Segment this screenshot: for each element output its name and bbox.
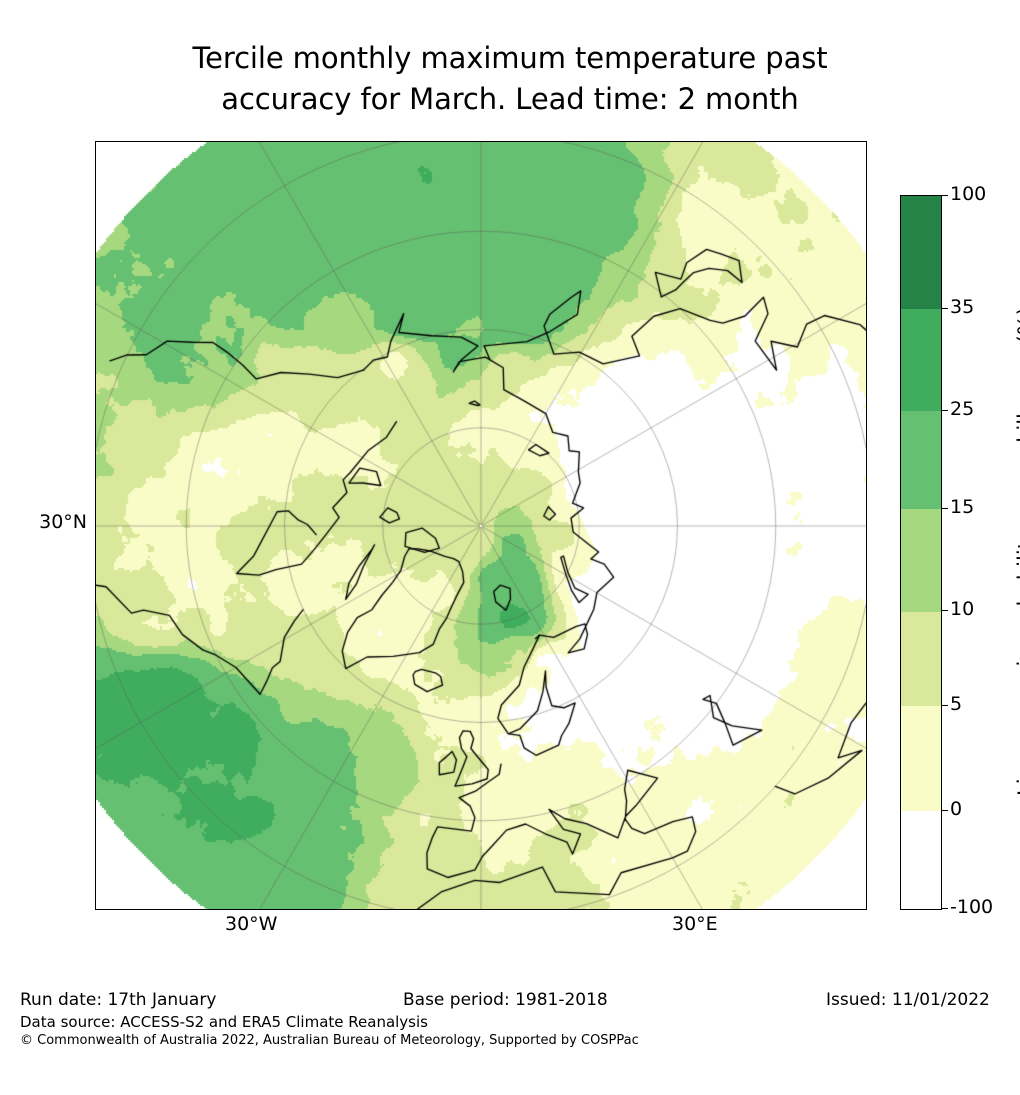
axis-tick-label-longitude-30e: 30°E bbox=[672, 913, 718, 935]
colorbar-tick-mark bbox=[941, 308, 948, 309]
colorbar-tick-mark bbox=[941, 195, 948, 196]
colorbar-tick-label: 25 bbox=[950, 400, 974, 419]
colorbar-tick-label: 15 bbox=[950, 498, 974, 517]
colorbar-tick-label: 10 bbox=[950, 600, 974, 619]
colorbar-tick-label: -100 bbox=[950, 898, 993, 917]
colorbar-tick-mark bbox=[941, 908, 948, 909]
colorbar-band bbox=[901, 811, 941, 909]
polar-skill-score-heatmap bbox=[96, 142, 866, 909]
colorbar-band bbox=[901, 309, 941, 411]
colorbar-tick-mark bbox=[941, 810, 948, 811]
colorbar-tick-label: 35 bbox=[950, 298, 974, 317]
page-title: Tercile monthly maximum temperature past… bbox=[0, 38, 1020, 120]
footer-issued-date: Issued: 11/01/2022 bbox=[826, 990, 990, 1010]
colorbar-band bbox=[901, 509, 941, 612]
footer-run-date: Run date: 17th January bbox=[20, 990, 216, 1010]
map-plot-area bbox=[95, 141, 867, 910]
colorbar-tick-mark bbox=[941, 508, 948, 509]
colorbar-tick-mark bbox=[941, 610, 948, 611]
footer-base-period: Base period: 1981-2018 bbox=[403, 990, 608, 1010]
colorbar-axis-label: Linear error in probability space skill … bbox=[1009, 195, 1020, 908]
colorbar-tick-label: 0 bbox=[950, 800, 962, 819]
colorbar-tick-mark bbox=[941, 705, 948, 706]
colorbar-band bbox=[901, 196, 941, 309]
footer-copyright: © Commonwealth of Australia 2022, Austra… bbox=[20, 1033, 639, 1048]
axis-tick-label-latitude-30n: 30°N bbox=[39, 511, 87, 533]
colorbar bbox=[900, 195, 942, 910]
colorbar-band bbox=[901, 411, 941, 509]
axis-tick-label-longitude-30w: 30°W bbox=[225, 913, 277, 935]
colorbar-band bbox=[901, 706, 941, 811]
colorbar-tick-label: 100 bbox=[950, 185, 986, 204]
colorbar-tick-mark bbox=[941, 410, 948, 411]
colorbar-tick-label: 5 bbox=[950, 695, 962, 714]
footer-data-source: Data source: ACCESS-S2 and ERA5 Climate … bbox=[20, 1013, 428, 1031]
colorbar-band bbox=[901, 612, 941, 707]
